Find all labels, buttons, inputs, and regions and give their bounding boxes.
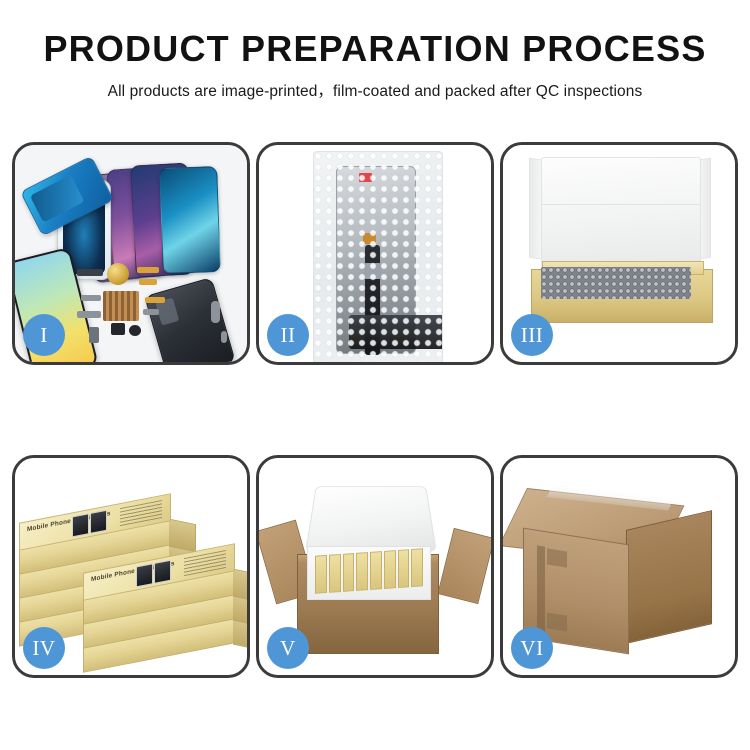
foam-lid-open [305,486,437,551]
driver-ic-chip [364,263,381,279]
red-qc-label [359,173,372,182]
retail-box [411,548,423,587]
step-badge-5: V [267,627,309,669]
step-badge-2: II [267,314,309,356]
page-title: PRODUCT PREPARATION PROCESS [0,30,750,68]
retail-box [370,551,382,590]
box-spec-lines [184,550,226,576]
spare-part-9 [145,297,165,303]
spare-part-7 [129,325,141,336]
spare-part-5 [77,311,101,318]
carton-tab-top [547,548,567,567]
connector-bottom-left [349,334,362,345]
step-badge-6: VI [511,627,553,669]
step-badge-1: I [23,314,65,356]
step-panel-1[interactable]: I [12,142,250,365]
retail-box [315,555,327,594]
box-thumbnail-a [136,563,153,587]
spare-part-12 [221,331,227,343]
spare-part-4 [81,295,101,301]
retail-box [398,549,410,588]
spare-part-3 [139,279,157,285]
spare-part-6 [111,323,125,335]
retail-box [356,552,368,591]
spare-part-10 [143,309,159,315]
page-subtitle: All products are image-printed，film-coat… [0,79,750,101]
retail-boxes-inside [315,548,423,594]
carton-side-face [626,510,712,644]
step-panel-5[interactable]: V [256,455,494,678]
step-panel-2[interactable]: II [256,142,494,365]
white-foam-lid [541,157,701,277]
box-thumbnail-b [154,560,171,584]
bubble-wrap-bag [313,151,443,362]
retail-box [343,553,355,592]
retail-box [384,550,396,589]
lcd-screen [336,166,416,354]
retail-box [329,554,341,593]
chip-array-component [103,291,139,321]
screen-lower-assembly [349,315,443,349]
page-header: PRODUCT PREPARATION PROCESS All products… [0,0,750,101]
grey-bubble-padding [541,267,691,299]
spare-part-2 [137,267,159,273]
connector-bottom-right [392,332,405,343]
box-thumbnail-a [72,513,89,537]
spare-part-1 [77,269,103,276]
speaker-component [107,263,129,285]
box-spec-lines [120,500,162,526]
step-panel-6[interactable]: VI [500,455,738,678]
box-thumbnail-b [90,510,107,534]
carton-tab-bottom [547,612,567,631]
phone-screen-b [159,166,221,274]
flex-cable [365,245,380,355]
step-badge-4: IV [23,627,65,669]
connector-top [363,233,376,244]
spare-part-8 [89,327,99,343]
spare-part-11 [211,301,220,323]
step-panel-4[interactable]: Mobile Phone Spare Parts Mobile Phone Sp… [12,455,250,678]
process-steps-grid: I II [12,142,738,678]
step-badge-3: III [511,314,553,356]
step-panel-3[interactable]: III [500,142,738,365]
